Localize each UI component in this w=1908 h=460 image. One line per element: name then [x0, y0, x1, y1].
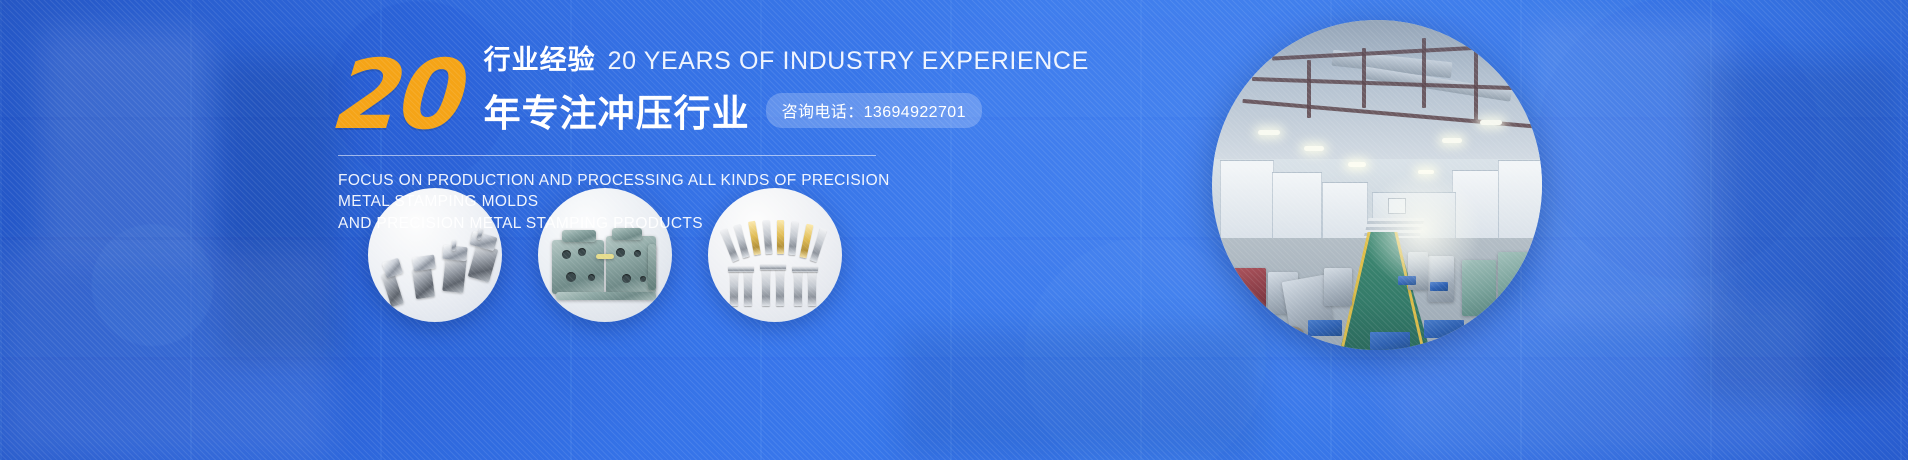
- banner-copy: 20 行业经验 20 YEARS OF INDUSTRY EXPERIENCE …: [338, 38, 958, 234]
- background-blur-block: [900, 330, 1260, 460]
- subtext-line-1: FOCUS ON PRODUCTION AND PROCESSING ALL K…: [338, 170, 898, 213]
- background-blur-block: [40, 30, 210, 260]
- headline-line-2: 年专注冲压行业 咨询电话：13694922701: [484, 83, 1089, 137]
- en-tagline: 20 YEARS OF INDUSTRY EXPERIENCE: [608, 47, 1089, 76]
- headline-line-1: 行业经验 20 YEARS OF INDUSTRY EXPERIENCE: [484, 38, 1089, 77]
- cn-tagline-large: 年专注冲压行业: [484, 83, 750, 137]
- factory-photo-circle: [1212, 20, 1542, 350]
- headline-row: 20 行业经验 20 YEARS OF INDUSTRY EXPERIENCE …: [338, 38, 958, 139]
- headline-text-group: 行业经验 20 YEARS OF INDUSTRY EXPERIENCE 年专注…: [484, 38, 1089, 139]
- years-number: 20: [333, 51, 468, 139]
- promo-banner: 20 行业经验 20 YEARS OF INDUSTRY EXPERIENCE …: [0, 0, 1908, 460]
- subtext-block: FOCUS ON PRODUCTION AND PROCESSING ALL K…: [338, 170, 898, 234]
- background-blur-block: [0, 250, 330, 460]
- subtext-line-2: AND PRECISION METAL STAMPING PRODUCTS: [338, 213, 898, 234]
- cn-tagline-small: 行业经验: [484, 38, 596, 77]
- phone-badge[interactable]: 咨询电话：13694922701: [766, 93, 982, 128]
- divider-rule: [338, 155, 876, 156]
